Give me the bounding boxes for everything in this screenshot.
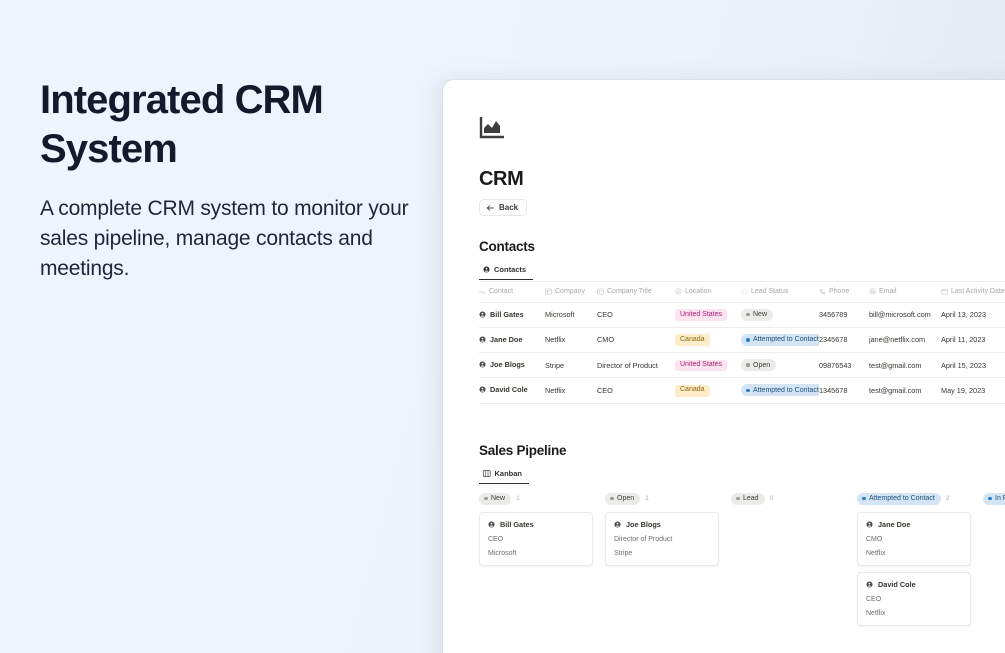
column-header-label: Phone [829,288,849,295]
kanban-card-name: Bill Gates [500,520,534,529]
kanban-column-header[interactable]: Open1 [605,493,719,505]
kanban-card[interactable]: Jane DoeCMONetflix [857,512,971,566]
cell-company: Netflix [545,327,597,352]
column-header-location[interactable]: Location [675,281,741,302]
table-row[interactable]: David ColeNetflixCEOCanadaAttempted to C… [479,378,1005,403]
person-icon [866,521,873,528]
cell-email: bill@microsoft.com [869,302,941,327]
column-header-company-title[interactable]: Company Title [597,281,675,302]
cell-company-title: Director of Product [597,353,675,378]
cell-company: Microsoft [545,302,597,327]
phone-icon [819,288,826,295]
person-icon [614,521,621,528]
kanban-column-header[interactable]: In Progress0 [983,493,1005,505]
column-header-label: Email [879,288,897,295]
status-badge: Attempted to Contact [741,384,819,396]
cell-phone: 3456789 [819,302,869,327]
person-icon [479,361,486,368]
person-icon [866,581,873,588]
contact-name: Bill Gates [490,310,524,319]
kanban-card-company: Stripe [614,550,710,557]
section-title-sales-pipeline: Sales Pipeline [479,443,1005,458]
contacts-table-wrapper: AaContactCompanyCompany TitleLocationLea… [479,281,1005,404]
email-icon [869,288,876,295]
page-title: Integrated CRM System [40,76,420,174]
column-header-label: Last Activity Date [951,288,1005,295]
column-header-phone[interactable]: Phone [819,281,869,302]
kanban-card[interactable]: David ColeCEONetflix [857,572,971,626]
kanban-column-header[interactable]: Lead0 [731,493,845,505]
contact-cell: Bill Gates [479,310,524,319]
cell-last-activity-date: April 11, 2023 [941,327,1005,352]
board-icon [483,470,491,477]
column-header-label: Location [685,288,711,295]
back-button[interactable]: Back [479,199,527,216]
status-badge: New [741,309,773,321]
calendar-icon [941,288,948,295]
cell-company-title: CEO [597,378,675,403]
kanban-board: New1Bill GatesCEOMicrosoftOpen1Joe Blogs… [479,493,1005,632]
cell-location: Canada [675,327,741,352]
contact-cell: Jane Doe [479,335,522,344]
select-icon [675,288,682,295]
person-icon [483,266,490,273]
cell-lead-status: Open [741,353,819,378]
kanban-column: Lead0 [731,493,845,632]
kanban-card-title: Director of Product [614,536,710,543]
cell-company: Netflix [545,378,597,403]
back-button-label: Back [499,203,518,212]
cell-company-title: CMO [597,327,675,352]
kanban-card-name: Joe Blogs [626,520,661,529]
tab-kanban[interactable]: Kanban [479,467,529,484]
status-dot-icon [746,313,750,317]
column-header-label: Company [555,288,585,295]
kanban-card-name: David Cole [878,580,916,589]
contact-cell: Joe Blogs [479,360,525,369]
pipeline-view-tabs: Kanban [479,467,1005,484]
contact-name: Joe Blogs [490,360,525,369]
kanban-card-title: CEO [488,536,584,543]
kanban-card-company: Microsoft [488,550,584,557]
kanban-column-count: 0 [770,495,774,502]
location-pill: Canada [675,334,710,346]
kanban-column: In Progress0 [983,493,1005,632]
column-header-label: Lead Status [751,288,788,295]
svg-text:Aa: Aa [479,289,485,294]
table-row[interactable]: Joe BlogsStripeDirector of ProductUnited… [479,353,1005,378]
cell-email: test@gmail.com [869,378,941,403]
column-header-company[interactable]: Company [545,281,597,302]
status-badge: Attempted to Contact [741,334,819,346]
status-badge: Lead [731,493,765,505]
kanban-card-title: CMO [866,536,962,543]
cell-phone: 09876543 [819,353,869,378]
column-header-email[interactable]: Email [869,281,941,302]
cell-phone: 1345678 [819,378,869,403]
kanban-card-company: Netflix [866,610,962,617]
table-row[interactable]: Jane DoeNetflixCMOCanadaAttempted to Con… [479,327,1005,352]
page-root: Integrated CRM System A complete CRM sys… [0,0,1005,653]
kanban-column-count: 1 [645,495,649,502]
arrow-left-icon [486,204,494,212]
cell-lead-status: Attempted to Contact [741,378,819,403]
app-title: CRM [479,168,1005,191]
status-icon [741,288,748,295]
contacts-table-body: Bill GatesMicrosoftCEOUnited StatesNew34… [479,302,1005,403]
person-icon [479,336,486,343]
cell-email: jane@netflix.com [869,327,941,352]
bar-chart-icon [479,116,1005,140]
kanban-column-count: 2 [946,495,950,502]
column-header-label: Contact [489,288,513,295]
location-pill: United States [675,309,727,321]
status-badge: Attempted to Contact [857,493,941,505]
table-row[interactable]: Bill GatesMicrosoftCEOUnited StatesNew34… [479,302,1005,327]
contact-name: David Cole [490,385,528,394]
kanban-card[interactable]: Bill GatesCEOMicrosoft [479,512,593,566]
tab-contacts[interactable]: Contacts [479,263,533,280]
status-badge: New [479,493,511,505]
kanban-card-title: CEO [866,596,962,603]
cell-location: United States [675,302,741,327]
title-aa-icon: Aa [479,288,486,295]
status-dot-icon [484,497,488,501]
kanban-card[interactable]: Joe BlogsDirector of ProductStripe [605,512,719,566]
kanban-column: New1Bill GatesCEOMicrosoft [479,493,593,632]
contacts-view-tabs: Contacts [479,263,1005,280]
kanban-card-name: Jane Doe [878,520,910,529]
cell-last-activity-date: May 19, 2023 [941,378,1005,403]
status-badge: In Progress [983,493,1005,505]
contact-name: Jane Doe [490,335,522,344]
status-dot-icon [746,389,750,393]
hero-subtitle: A complete CRM system to monitor your sa… [40,194,420,284]
status-dot-icon [746,338,750,342]
cell-phone: 2345678 [819,327,869,352]
column-header-label: Company Title [607,288,652,295]
cell-lead-status: Attempted to Contact [741,327,819,352]
status-badge: Open [741,359,776,371]
contacts-table-header-row: AaContactCompanyCompany TitleLocationLea… [479,281,1005,302]
status-dot-icon [862,497,866,501]
contacts-table: AaContactCompanyCompany TitleLocationLea… [479,281,1005,404]
kanban-column-header[interactable]: Attempted to Contact2 [857,493,971,505]
kanban-column: Open1Joe BlogsDirector of ProductStripe [605,493,719,632]
section-title-contacts: Contacts [479,239,1005,254]
person-icon [479,311,486,318]
hero-block: Integrated CRM System A complete CRM sys… [40,76,420,284]
column-header-lead-status[interactable]: Lead Status [741,281,819,302]
cell-lead-status: New [741,302,819,327]
person-icon [479,386,486,393]
person-icon [488,521,495,528]
tab-kanban-label: Kanban [495,469,523,478]
cell-email: test@gmail.com [869,353,941,378]
tab-contacts-label: Contacts [494,265,526,274]
kanban-card-company: Netflix [866,550,962,557]
status-badge: Open [605,493,640,505]
contact-cell: David Cole [479,385,528,394]
relation-icon [545,288,552,295]
kanban-column: Attempted to Contact2Jane DoeCMONetflixD… [857,493,971,632]
cell-company: Stripe [545,353,597,378]
app-preview-panel: CRM Back Contacts [443,80,1005,653]
cell-last-activity-date: April 15, 2023 [941,353,1005,378]
status-dot-icon [746,363,750,367]
status-dot-icon [610,497,614,501]
kanban-column-header[interactable]: New1 [479,493,593,505]
kanban-column-count: 1 [516,495,520,502]
column-header-contact[interactable]: AaContact [479,281,545,302]
cell-location: United States [675,353,741,378]
relation-icon [597,288,604,295]
cell-company-title: CEO [597,302,675,327]
location-pill: United States [675,360,727,372]
cell-location: Canada [675,378,741,403]
status-dot-icon [988,497,992,501]
column-header-last-activity-date[interactable]: Last Activity Date [941,281,1005,302]
location-pill: Canada [675,385,710,397]
cell-last-activity-date: April 13, 2023 [941,302,1005,327]
status-dot-icon [736,497,740,501]
